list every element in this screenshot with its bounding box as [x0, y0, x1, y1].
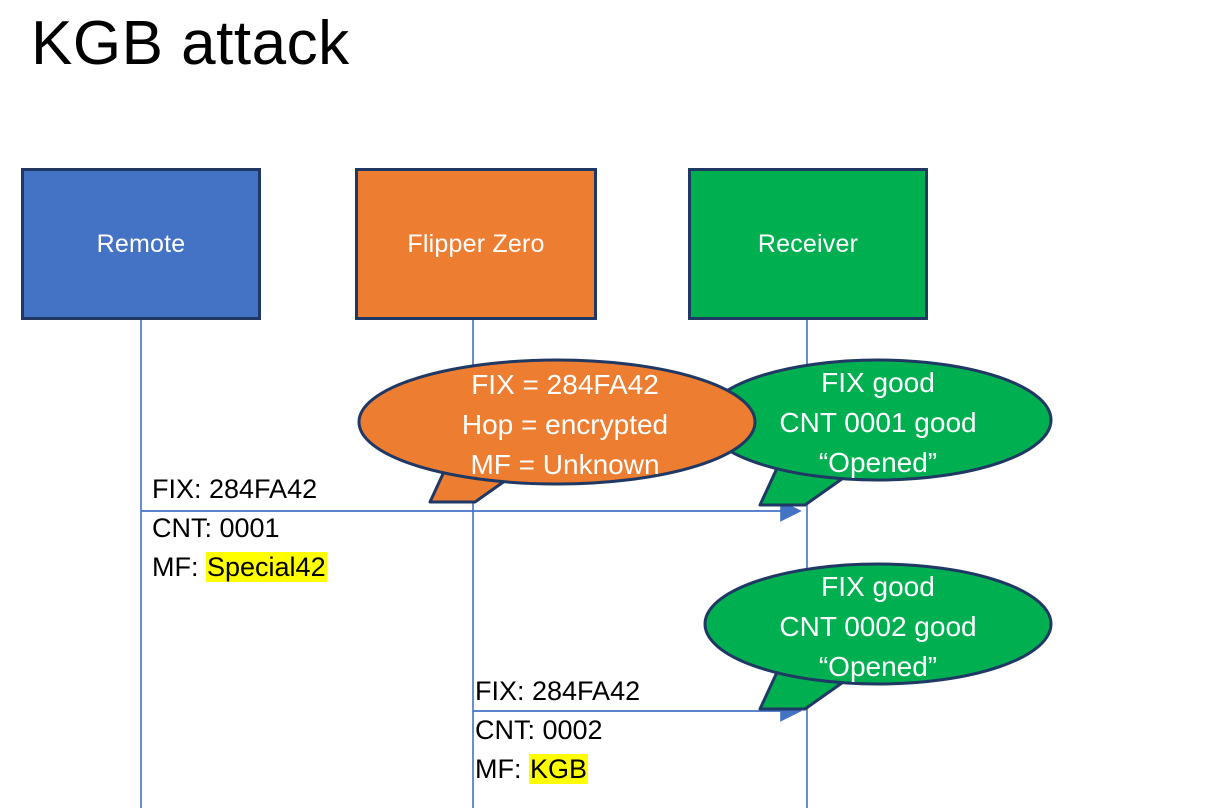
callout-receiver-response-2 — [705, 564, 1051, 709]
message-1-label-mf: MF: Special42 — [152, 548, 327, 587]
message-1-label-body: CNT: 0001 MF: Special42 — [152, 509, 327, 587]
message-2-label-fix: FIX: 284FA42 — [475, 672, 640, 711]
actor-box-receiver[interactable]: Receiver — [688, 168, 928, 320]
message-2-mf-prefix: MF: — [475, 754, 529, 784]
message-1-label-fix: FIX: 284FA42 — [152, 470, 317, 509]
message-2-label-body: CNT: 0002 MF: KGB — [475, 711, 603, 789]
callout-receiver-response-1 — [705, 360, 1051, 505]
actor-box-flipper[interactable]: Flipper Zero — [355, 168, 597, 320]
message-1-label-cnt: CNT: 0001 — [152, 509, 327, 548]
callout-flipper-observation — [359, 360, 755, 502]
message-2-label-cnt: CNT: 0002 — [475, 711, 603, 750]
slide-canvas: KGB attack Re — [0, 0, 1218, 808]
message-2-mf-value-highlight: KGB — [529, 754, 588, 784]
actor-box-remote[interactable]: Remote — [21, 168, 261, 320]
actor-label-flipper: Flipper Zero — [407, 230, 544, 259]
message-1-mf-prefix: MF: — [152, 552, 206, 582]
message-1-mf-value-highlight: Special42 — [206, 552, 327, 582]
actor-label-receiver: Receiver — [758, 230, 858, 259]
message-2-label-mf: MF: KGB — [475, 750, 603, 789]
actor-label-remote: Remote — [97, 230, 186, 259]
